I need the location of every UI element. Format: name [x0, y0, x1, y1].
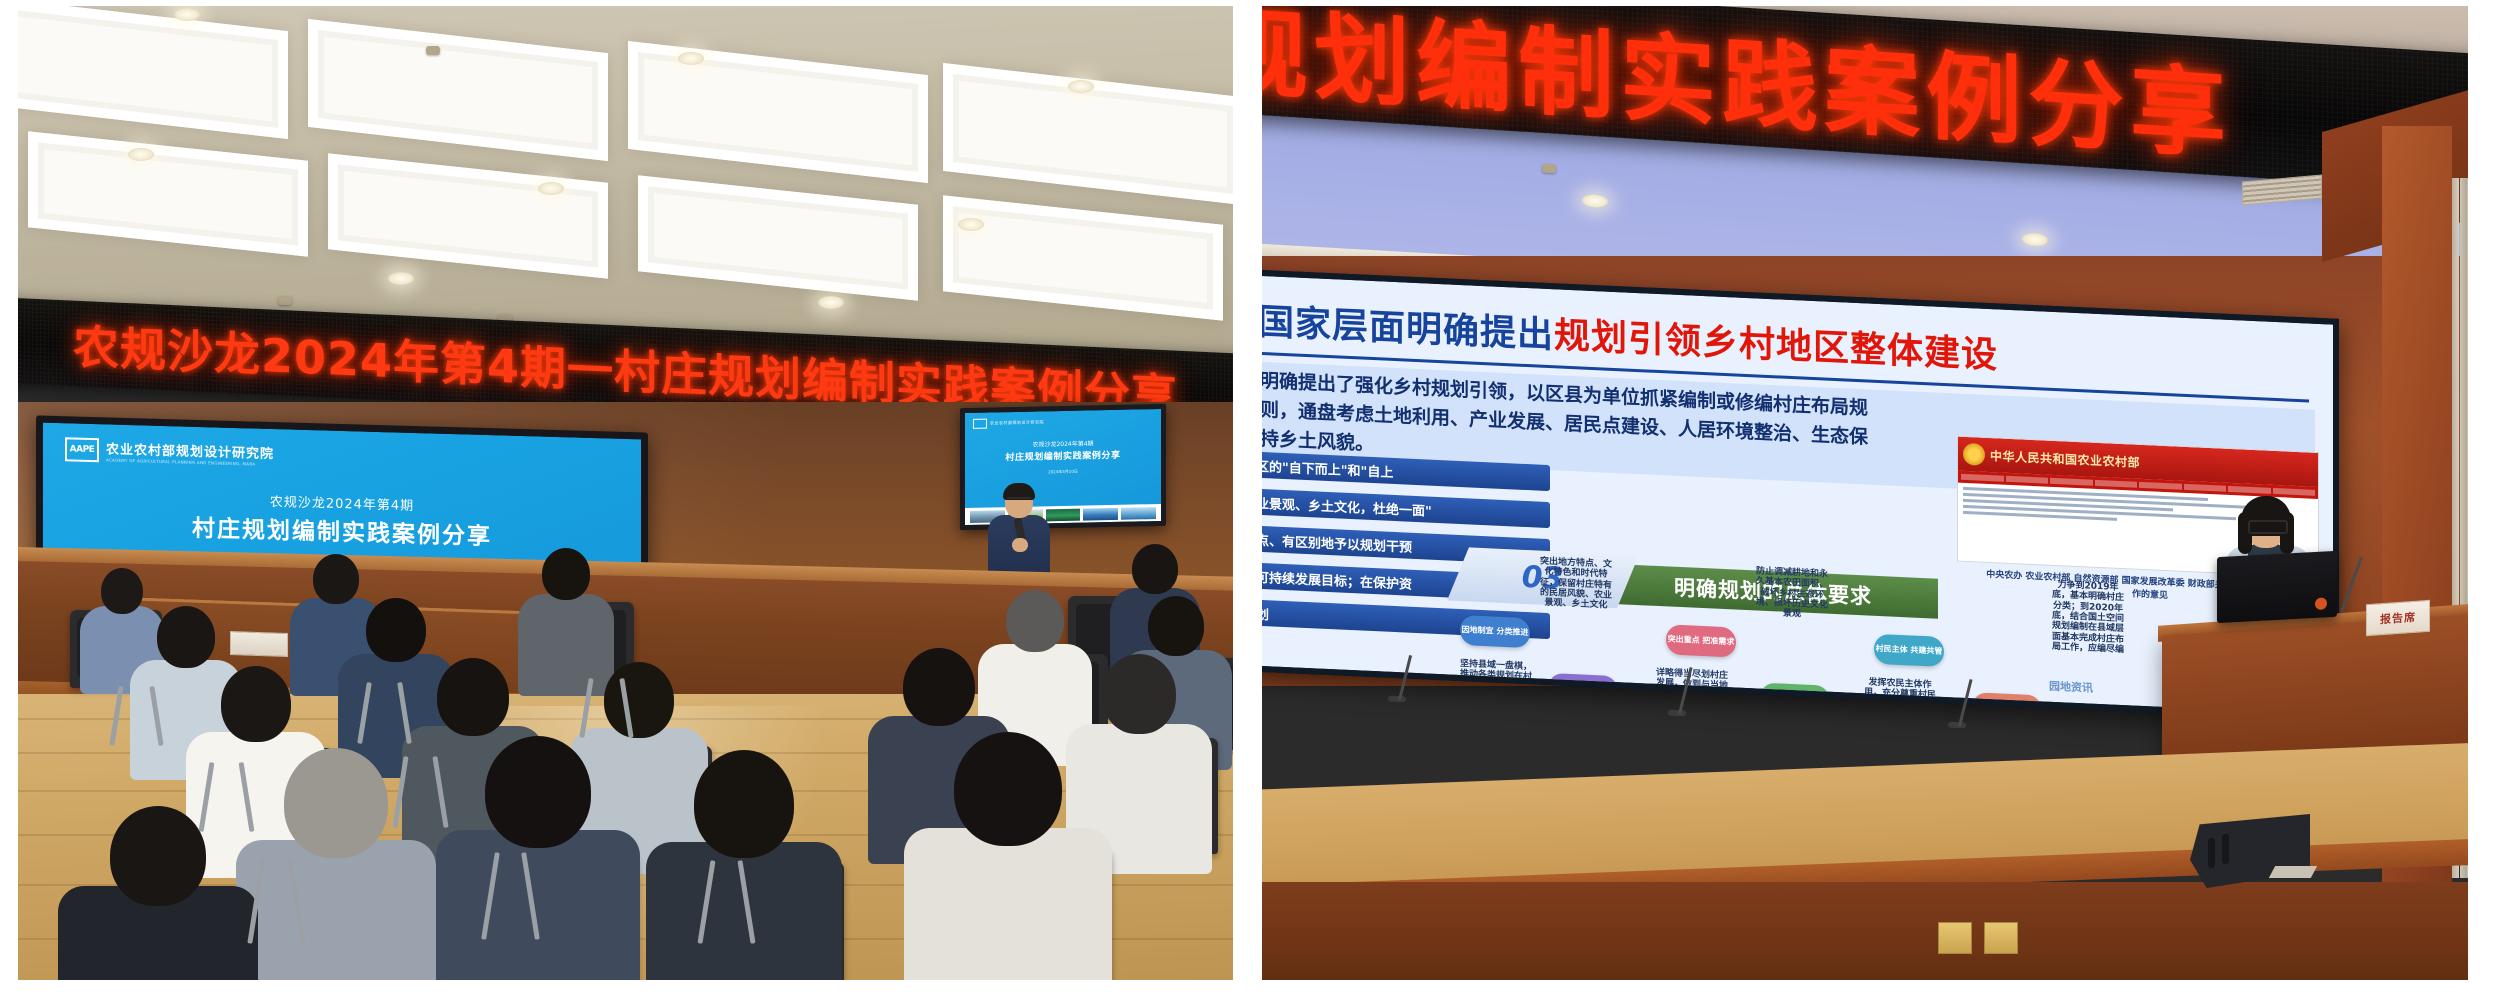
smoke-detector-icon — [278, 296, 292, 305]
right-conference-photo: 规划编制实践案例分享 国家层面明确提出 规划引领乡村地区整体建设 明确提出了强化… — [1262, 6, 2468, 980]
person-head — [694, 750, 794, 858]
gov-nav-item — [2095, 480, 2138, 488]
top-margin — [0, 0, 2500, 6]
smoke-detector-icon — [426, 46, 440, 55]
person-head — [1132, 544, 1178, 594]
gov-nav-item — [2184, 484, 2227, 492]
person-head — [954, 732, 1062, 846]
audience-person — [904, 732, 1112, 980]
person-torso — [436, 830, 640, 980]
diagram-node: 生态保护 建设并重 — [1760, 683, 1830, 716]
person-torso — [236, 840, 436, 980]
ceiling-downlight-icon — [818, 296, 844, 309]
right-nameplate: 报告席 — [2366, 600, 2430, 636]
national-emblem-icon — [1963, 443, 1985, 466]
gov-nav-item — [2139, 482, 2182, 490]
slide-thumbnail — [1121, 507, 1156, 520]
audience-person — [436, 736, 640, 980]
person-head — [366, 598, 426, 662]
slide-heading-prefix: 国家层面明确提出 — [1262, 293, 1554, 358]
speaker-port-slot — [2208, 838, 2215, 868]
person-head — [1148, 596, 1204, 656]
person-head — [604, 662, 674, 738]
person-torso — [646, 842, 842, 980]
person-head — [157, 606, 215, 668]
gov-nav-item — [1961, 474, 2004, 482]
gov-site-name: 中华人民共和国农业农村部 — [1990, 447, 2140, 471]
laptop-logo-icon — [2315, 597, 2327, 610]
ceiling-coffer — [628, 41, 928, 183]
glasses-icon — [1007, 497, 1031, 505]
ceiling-downlight-icon — [538, 182, 564, 195]
diagram-node: 突出特色 保留乡愁 — [1548, 673, 1618, 706]
slide-thumbnail — [1083, 507, 1118, 520]
gov-nav-item — [2273, 488, 2316, 496]
audience-person — [646, 750, 842, 980]
podium-laptop — [2217, 551, 2337, 623]
diagram-note: 发挥农民主体作用，充分尊重村民的知情权、决策权、监督权 — [1864, 677, 1936, 721]
diagram-node: 村民主体 共建共管 — [1874, 634, 1944, 667]
ceiling-coffer — [943, 195, 1223, 320]
person-head — [1006, 590, 1064, 652]
person-head — [485, 736, 591, 848]
slide-bullet-text: 可持续发展目标；在保护资 — [1262, 566, 1412, 592]
right-nameplate-text: 报告席 — [2380, 609, 2416, 628]
diagram-note: 防止调减耕地和永久基本农田面积、破坏乡村生态环境、损坏历史文化景观 — [1756, 566, 1828, 621]
slide-watermark: 园地资讯 — [2049, 678, 2093, 696]
side-monitor-logo-text: 农业农村部规划设计研究院 — [990, 419, 1044, 426]
slide-bullet-text: 点、有区别地予以规划干预 — [1262, 529, 1412, 555]
audience-person — [58, 806, 258, 980]
person-head — [284, 748, 388, 858]
ceiling-coffer — [18, 6, 288, 139]
ceiling-downlight-icon — [678, 52, 704, 65]
ceiling-downlight-icon — [174, 8, 200, 21]
diagram-note: 力争到2019年底，基本明确村庄分类；到2020年底，结合国土空间规划编制在县域… — [2052, 580, 2124, 656]
diagram-node: 因地制宜 分类推进 — [1460, 615, 1530, 648]
aape-logo-icon — [973, 419, 987, 429]
person-head — [221, 666, 291, 742]
glasses-icon — [2248, 520, 2288, 534]
left-ceiling — [18, 6, 1233, 356]
person-head — [903, 648, 975, 726]
ceiling-coffer — [328, 153, 608, 278]
diagram-note: 详略得当尽划村庄发展，做到与当地经济水平和群众需要相适应 — [1656, 668, 1728, 713]
diagram-node: 明确时限 及时公布 — [1972, 692, 2042, 721]
slide-logo: AAPE 农业农村部规划设计研究院 ACADEMY OF AGRICULTURA… — [65, 437, 274, 467]
right-margin — [2468, 0, 2500, 1000]
left-conference-photo: 农规沙龙2024年第4期一村庄规划编制实践案例分享 AAPE 农业农村部规划设计… — [18, 6, 1233, 980]
stage-apron — [1262, 882, 2468, 980]
slide-bullet-bar: 业景观、乡土文化，杜绝一面" — [1262, 488, 1550, 528]
person-torso — [904, 828, 1112, 980]
audience-person — [236, 748, 436, 980]
floor-outlet-plate — [1938, 922, 1972, 954]
left-margin — [0, 0, 18, 1000]
person-head — [542, 548, 590, 600]
person-head — [313, 554, 359, 604]
aape-logo-icon: AAPE — [65, 437, 99, 462]
gov-nav-item — [2006, 476, 2049, 484]
gov-nav-item — [2050, 478, 2093, 486]
diagram-node: 突出重点 把准需求 — [1666, 624, 1736, 657]
person-head — [437, 658, 509, 736]
ceiling-downlight-icon — [1582, 194, 1608, 208]
ceiling-downlight-icon — [958, 218, 984, 231]
ceiling-downlight-icon — [128, 148, 154, 161]
photo-divider-gap — [1233, 0, 1262, 1000]
floor-outlet-plate — [1984, 922, 2018, 954]
presenter-hand — [1012, 538, 1028, 552]
slide-bullet-text: 划 — [1262, 603, 1269, 623]
speaker-cable-plate — [2269, 866, 2317, 878]
person-head — [1102, 654, 1176, 734]
person-head — [110, 806, 206, 906]
side-monitor-date: 2024年5月10日 — [965, 467, 1161, 477]
ceiling-downlight-icon — [1068, 80, 1094, 93]
side-monitor-logo: 农业农村部规划设计研究院 — [973, 417, 1044, 428]
smoke-detector-icon — [1542, 164, 1556, 174]
ceiling-coffer — [638, 175, 918, 300]
side-monitor-title: 村庄规划编制实践案例分享 — [965, 447, 1161, 464]
gov-nav-item — [2228, 486, 2271, 494]
slide-bullet-text: 区的"自下而上"和"自上 — [1262, 455, 1393, 480]
ceiling-coffer — [308, 19, 608, 161]
screenshot-root: 农规沙龙2024年第4期一村庄规划编制实践案例分享 AAPE 农业农村部规划设计… — [0, 0, 2500, 1000]
diagram-note: 坚持县域一盘棋，推动各类规划在村域层面的"多规合一" — [1460, 659, 1532, 704]
ceiling-downlight-icon — [2022, 232, 2048, 246]
speaker-port-slot — [2222, 834, 2229, 864]
diagram-note: 突出地方特点、文化特色和时代特征，保留村庄特有的民居风貌、农业景观、乡土文化 — [1540, 557, 1612, 612]
bottom-margin — [0, 980, 2500, 1000]
ceiling-downlight-icon — [388, 272, 414, 285]
stage-monitor-speaker — [2190, 814, 2310, 888]
ceiling-coffer — [28, 131, 308, 256]
slide-bullet-text: 业景观、乡土文化，杜绝一面" — [1262, 492, 1432, 519]
